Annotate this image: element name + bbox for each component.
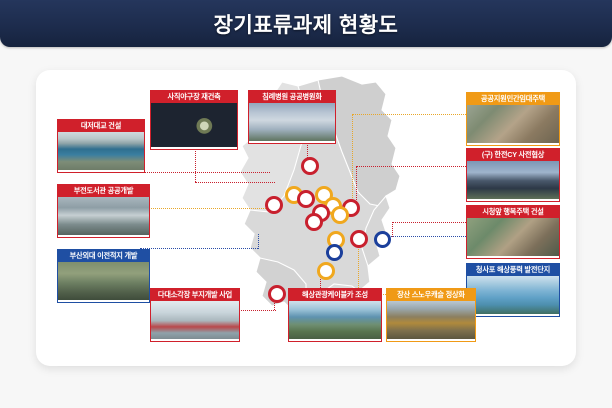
- card-photo-library-building-aerial: [58, 197, 149, 235]
- card-photo-aerial-river-bridge: [58, 132, 144, 170]
- screenshot-root: 장기표류과제 현황도 대저대교 건설: [0, 0, 612, 408]
- card-title: 침례병원 공공병원화: [249, 91, 335, 103]
- card-chimrye-hospital[interactable]: 침례병원 공공병원화: [248, 90, 336, 144]
- map-marker-blue[interactable]: [326, 244, 343, 261]
- map-marker-red[interactable]: [350, 230, 368, 248]
- card-photo-incineration-plant: [151, 301, 239, 339]
- card-public-rental-housing[interactable]: 공공지원민간임대주택: [466, 92, 560, 146]
- card-title: 대저대교 건설: [58, 120, 144, 132]
- map-marker-orange[interactable]: [331, 206, 349, 224]
- card-photo-city-hall-area-aerial: [467, 218, 559, 256]
- card-title: 해상관광케이블카 조성: [289, 289, 381, 301]
- card-title: 사직야구장 재건축: [151, 91, 237, 103]
- map-marker-blue[interactable]: [374, 231, 391, 248]
- card-photo-coastal-sea-view: [467, 276, 559, 314]
- card-dadae-incinerator[interactable]: 다대소각장 부지개발 사업: [150, 288, 240, 342]
- map-marker-red[interactable]: [297, 190, 315, 208]
- card-photo-former-campus-site: [58, 262, 149, 300]
- card-kepco-cy[interactable]: (구) 한전CY 사전협상: [466, 148, 560, 202]
- map-marker-red[interactable]: [265, 196, 283, 214]
- map-marker-red[interactable]: [301, 157, 319, 175]
- card-bufs-relocation[interactable]: 부산외대 이전적지 개발: [57, 249, 150, 303]
- card-photo-housing-site-aerial: [467, 105, 559, 143]
- card-title: 공공지원민간임대주택: [467, 93, 559, 105]
- card-title: 장산 스노우캐슬 정상화: [387, 289, 475, 301]
- card-cheongsapo-wind[interactable]: 청사포 해상풍력 발전단지: [466, 263, 560, 317]
- card-title: 부전도서관 공공개발: [58, 185, 149, 197]
- card-cityhall-happy-house[interactable]: 시청앞 행복주택 건설: [466, 205, 560, 259]
- card-daejeo-bridge[interactable]: 대저대교 건설: [57, 119, 145, 173]
- map-marker-red[interactable]: [305, 213, 323, 231]
- card-marine-cable-car[interactable]: 해상관광케이블카 조성: [288, 288, 382, 342]
- card-bujeon-library[interactable]: 부전도서관 공공개발: [57, 184, 150, 238]
- card-photo-mountain-construction-site: [387, 301, 475, 339]
- card-photo-high-rise-towers: [467, 161, 559, 199]
- card-title: 시청앞 행복주택 건설: [467, 206, 559, 218]
- title-banner: 장기표류과제 현황도: [0, 0, 612, 47]
- card-title: 청사포 해상풍력 발전단지: [467, 264, 559, 276]
- card-photo-hospital-complex: [249, 103, 335, 141]
- map-marker-orange[interactable]: [317, 262, 335, 280]
- card-photo-coastal-bay-panorama: [289, 301, 381, 339]
- card-title: 다대소각장 부지개발 사업: [151, 289, 239, 301]
- card-title: 부산외대 이전적지 개발: [58, 250, 149, 262]
- card-photo-baseball-stadium-night: [151, 103, 237, 147]
- page-title: 장기표류과제 현황도: [214, 9, 399, 39]
- card-title: (구) 한전CY 사전협상: [467, 149, 559, 161]
- card-sajik-stadium[interactable]: 사직야구장 재건축: [150, 90, 238, 150]
- map-marker-red[interactable]: [268, 285, 286, 303]
- card-jangsan-snowcastle[interactable]: 장산 스노우캐슬 정상화: [386, 288, 476, 342]
